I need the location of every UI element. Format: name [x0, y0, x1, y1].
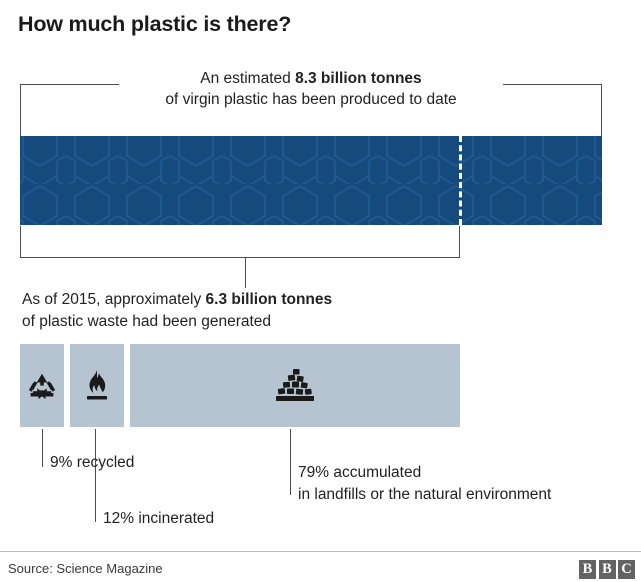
hexagon-pattern-icon [20, 136, 602, 225]
callout-label-accumulated-line2: in landfills or the natural environment [298, 484, 551, 506]
callout-line-accumulated [290, 429, 291, 495]
callout-label-incinerated: 12% incinerated [103, 508, 214, 530]
waste-caption-prefix: As of 2015, approximately [22, 291, 206, 308]
footer-divider [0, 551, 641, 552]
callout-label-recycled: 9% recycled [50, 452, 134, 474]
callout-label-accumulated: 79% accumulated in landfills or the natu… [298, 462, 551, 505]
waste-fate-bar [20, 344, 460, 427]
bbc-logo-block-1: B [579, 560, 596, 579]
callout-line-recycled [42, 429, 43, 467]
callout-line-incinerated [95, 429, 96, 522]
waste-caption-line2: of plastic waste had been generated [22, 311, 332, 333]
waste-caption-line1: As of 2015, approximately 6.3 billion to… [22, 289, 332, 311]
bbc-logo: B B C [579, 560, 635, 579]
bbc-logo-block-2: B [599, 560, 616, 579]
waste-value: 6.3 billion tonnes [206, 291, 333, 308]
waste-bracket-drop-line [245, 258, 246, 288]
waste-segment-accumulated [130, 344, 460, 427]
waste-share-divider [459, 136, 462, 225]
waste-caption: As of 2015, approximately 6.3 billion to… [22, 289, 332, 332]
flame-icon [84, 369, 110, 403]
landfill-pile-icon [270, 366, 320, 406]
page-title: How much plastic is there? [18, 12, 291, 37]
produced-bracket-left-rule [21, 84, 119, 85]
produced-bracket-right-rule [503, 84, 601, 85]
waste-bracket [20, 226, 460, 258]
source-text: Source: Science Magazine [8, 561, 163, 576]
bbc-logo-block-3: C [618, 560, 635, 579]
waste-segment-incinerated [70, 344, 124, 427]
recycling-icon [28, 372, 56, 400]
callout-label-accumulated-line1: 79% accumulated [298, 462, 551, 484]
waste-segment-recycled [20, 344, 64, 427]
produced-bracket [20, 84, 602, 136]
produced-plastic-bar [20, 136, 602, 225]
